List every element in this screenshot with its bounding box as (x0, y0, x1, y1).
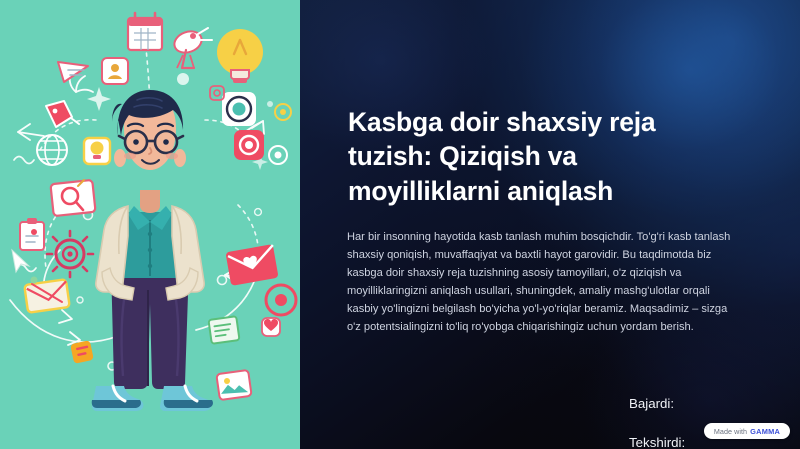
content-inner: Kasbga doir shaxsiy reja tuzish: Qiziqis… (300, 0, 800, 449)
search-card-icon (50, 180, 95, 216)
bulb-card-icon (84, 138, 110, 164)
performed-by-label: Bajardi: (629, 394, 685, 414)
slide-body-text: Har bir insonning hayotida kasb tanlash … (347, 228, 739, 336)
content-panel: Kasbga doir shaxsiy reja tuzish: Qiziqis… (300, 0, 800, 449)
signature-block: Bajardi: Tekshirdi: (629, 374, 685, 449)
photo-icon (216, 370, 251, 400)
document-icon (208, 316, 239, 344)
made-with-label: Made with (714, 427, 747, 436)
gamma-brand-label: GAMMA (750, 427, 780, 436)
target-icon (222, 92, 256, 126)
clipboard-icon (20, 218, 44, 250)
made-with-gamma-badge[interactable]: Made with GAMMA (704, 423, 790, 439)
illustration-panel (0, 0, 300, 449)
photo-icon (262, 318, 280, 336)
camera-icon (234, 130, 264, 160)
checked-by-label: Tekshirdi: (629, 433, 685, 449)
career-illustration (0, 0, 300, 449)
calendar-icon (128, 13, 162, 50)
presentation-slide: Kasbga doir shaxsiy reja tuzish: Qiziqis… (0, 0, 800, 449)
slide-title: Kasbga doir shaxsiy reja tuzish: Qiziqis… (348, 105, 708, 208)
contact-card-icon (102, 58, 128, 84)
document-icon (70, 340, 94, 364)
